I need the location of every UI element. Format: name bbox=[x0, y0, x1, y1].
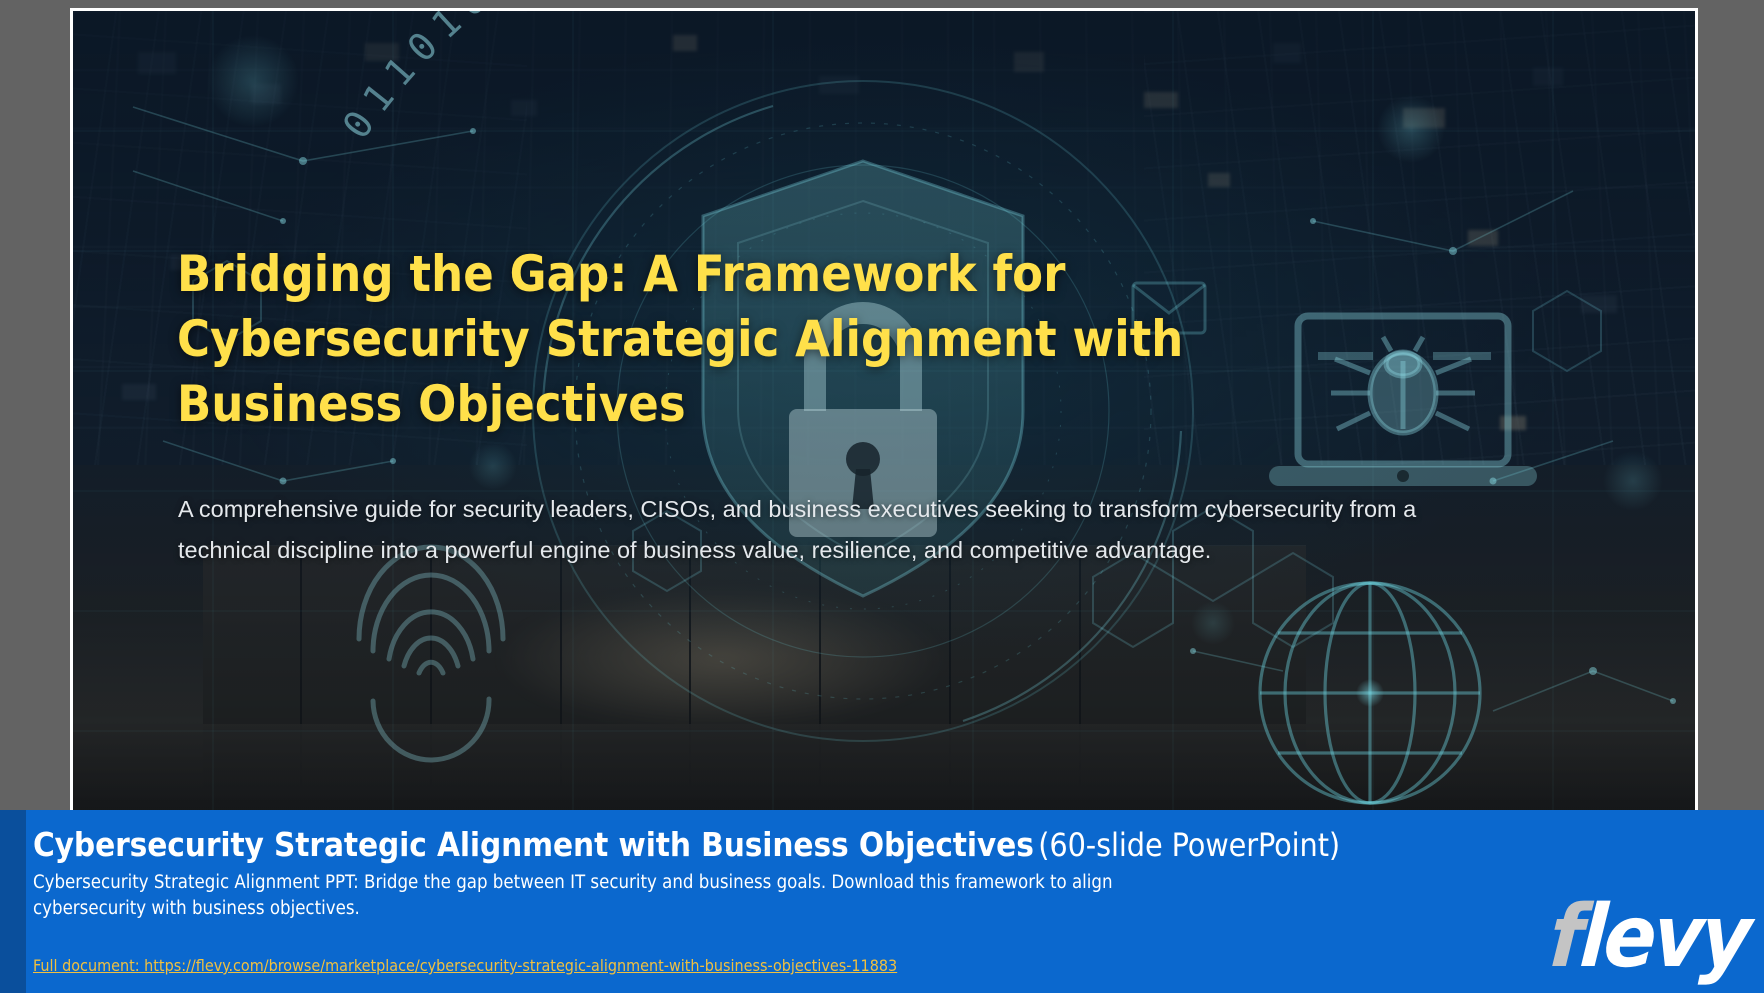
globe-network-icon bbox=[1260, 583, 1480, 803]
banner-description: Cybersecurity Strategic Alignment PPT: B… bbox=[33, 870, 1163, 923]
slide-frame: 0110101011 1011011001 bbox=[70, 8, 1698, 824]
banner-left-edge bbox=[0, 810, 26, 993]
flevy-logo-levy: levy bbox=[1577, 887, 1752, 987]
flevy-banner: Cybersecurity Strategic Alignment with B… bbox=[0, 810, 1764, 993]
banner-document-link[interactable]: Full document: https://flevy.com/browse/… bbox=[33, 956, 897, 975]
slide-subtitle: A comprehensive guide for security leade… bbox=[178, 489, 1418, 570]
banner-title-line: Cybersecurity Strategic Alignment with B… bbox=[33, 826, 1504, 864]
slide-title: Bridging the Gap: A Framework for Cybers… bbox=[177, 242, 1297, 437]
banner-document-format: (60-slide PowerPoint) bbox=[1038, 826, 1340, 864]
slide-canvas: 0110101011 1011011001 bbox=[73, 11, 1695, 821]
svg-text:0110101011 1011011001: 0110101011 1011011001 bbox=[334, 11, 961, 147]
laptop-bug-icon bbox=[1269, 316, 1537, 486]
bug-glyph bbox=[1331, 337, 1475, 433]
fingerprint-icon bbox=[359, 547, 503, 760]
banner-document-title: Cybersecurity Strategic Alignment with B… bbox=[33, 825, 1034, 864]
banner-text-block: Cybersecurity Strategic Alignment with B… bbox=[33, 826, 1504, 922]
flevy-logo[interactable]: flevy bbox=[1546, 894, 1751, 980]
